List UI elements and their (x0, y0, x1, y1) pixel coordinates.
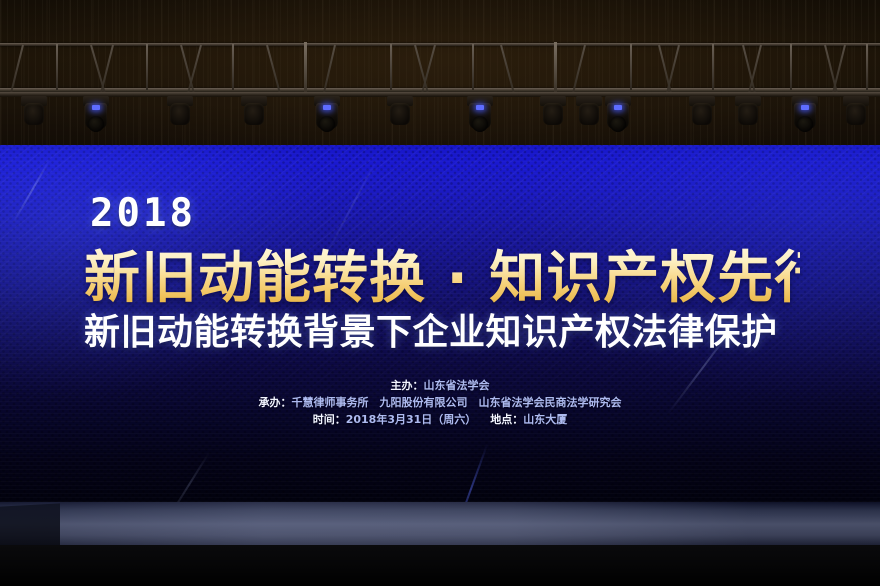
meta-value-coorganizer: 千慧律师事务所 九阳股份有限公司 山东省法学会民商法学研究会 (292, 396, 622, 409)
led-backdrop-screen: 2018 新旧动能转换 · 知识产权先行 新旧动能转换背景下企业知识产权法律保护… (0, 145, 880, 502)
fixture-led-indicator (614, 105, 622, 110)
truss-diagonal (187, 45, 202, 94)
event-meta-block: 主办：山东省法学会 承办：千慧律师事务所 九阳股份有限公司 山东省法学会民商法学… (0, 377, 880, 428)
truss-diagonal (658, 45, 672, 94)
truss-joint (304, 42, 307, 92)
truss-diagonal (10, 45, 24, 94)
fixture-led-indicator (801, 105, 809, 110)
stage-floor (0, 502, 880, 548)
truss-post (866, 44, 868, 90)
truss-post (390, 44, 392, 90)
truss-post (630, 44, 632, 90)
truss-post (232, 44, 234, 90)
fixture-led-indicator (92, 105, 100, 110)
event-year: 2018 (90, 191, 196, 236)
lighting-truss (0, 42, 880, 94)
meta-label-place: 地点： (490, 413, 523, 426)
truss-post (790, 44, 792, 90)
truss-diagonal (666, 45, 680, 94)
meta-label-coorganizer: 承办： (259, 396, 292, 409)
truss-diagonal (100, 45, 114, 94)
meta-value-place: 山东大厦 (523, 413, 567, 426)
meta-value-time: 2018年3月31日（周六） (346, 413, 477, 426)
truss-top-chord (0, 43, 880, 46)
truss-joint (554, 42, 557, 92)
truss-diagonal (266, 45, 281, 94)
meta-line-organizer: 主办：山东省法学会 (0, 377, 880, 394)
truss-post (712, 44, 714, 90)
stage-photo: 2018 新旧动能转换 · 知识产权先行 新旧动能转换背景下企业知识产权法律保护… (0, 0, 880, 586)
stage-floor-sheen (0, 502, 880, 548)
truss-diagonal (323, 45, 336, 94)
meta-line-time-place: 时间：2018年3月31日（周六）地点：山东大厦 (0, 411, 880, 428)
truss-diagonal (421, 45, 436, 94)
fixture-led-indicator (323, 105, 331, 110)
meta-line-coorganizer: 承办：千慧律师事务所 九阳股份有限公司 山东省法学会民商法学研究会 (0, 394, 880, 411)
meta-label-organizer: 主办： (391, 379, 424, 392)
truss-diagonal (832, 45, 846, 94)
truss-post (146, 44, 148, 90)
event-headline: 新旧动能转换 · 知识产权先行 (84, 233, 800, 314)
truss-diagonal (572, 45, 586, 94)
event-subheadline: 新旧动能转换背景下企业知识产权法律保护 (84, 303, 800, 355)
truss-diagonal (824, 45, 838, 94)
stage-apron-shadow (0, 545, 880, 586)
stage-left-riser (0, 503, 60, 550)
fixture-led-indicator (476, 105, 484, 110)
screen-content: 2018 新旧动能转换 · 知识产权先行 新旧动能转换背景下企业知识产权法律保护… (0, 145, 880, 502)
meta-label-time: 时间： (313, 413, 346, 426)
truss-post (472, 44, 474, 90)
truss-post (56, 44, 58, 90)
meta-value-organizer: 山东省法学会 (424, 379, 490, 392)
truss-diagonal (500, 45, 515, 94)
